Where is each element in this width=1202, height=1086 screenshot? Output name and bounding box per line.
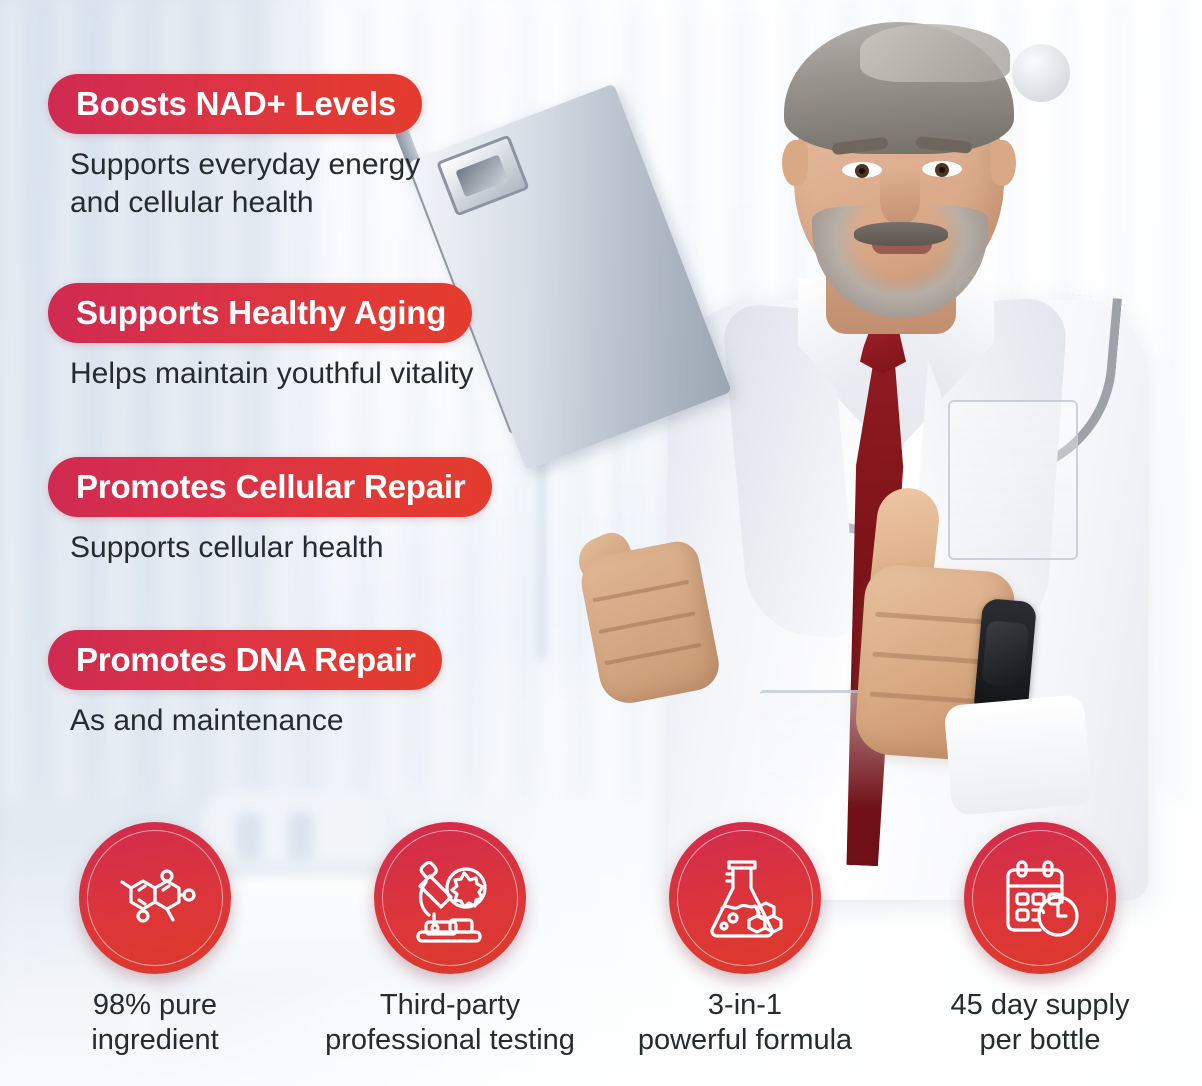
benefit-description-3: Supports cellular health: [70, 529, 492, 567]
ear-left: [782, 140, 808, 186]
benefit-title-badge-2: Supports Healthy Aging: [48, 283, 472, 343]
smartwatch-face: [982, 620, 1029, 687]
hair-highlight: [860, 24, 1010, 82]
ear-right: [990, 140, 1016, 186]
lab-coat-chest-pocket: [948, 400, 1078, 560]
doctor-photo: [560, 0, 1202, 880]
calendar-clock-icon: [964, 822, 1116, 974]
microscope-icon: [374, 822, 526, 974]
feature-label-testing: Third-party professional testing: [302, 988, 598, 1058]
benefit-item-2: Supports Healthy Aging Helps maintain yo…: [48, 283, 474, 393]
infographic-canvas: Boosts NAD+ Levels Supports everyday ene…: [0, 0, 1202, 1086]
feature-item-testing: Third-party professional testing: [302, 822, 598, 1058]
molecule-icon: [79, 822, 231, 974]
feature-label-formula: 3-in-1 powerful formula: [597, 988, 893, 1058]
lab-coat-cuff: [943, 694, 1092, 816]
feature-item-purity: 98% pure ingredient: [7, 822, 303, 1058]
stethoscope-chestpiece: [1012, 44, 1070, 102]
clipboard-clip: [436, 134, 530, 216]
mustache: [854, 222, 948, 246]
benefit-description-2: Helps maintain youthful vitality: [70, 355, 474, 393]
benefit-title-badge-4: Promotes DNA Repair: [48, 630, 442, 690]
feature-label-purity: 98% pure ingredient: [7, 988, 303, 1058]
eye-left: [842, 162, 882, 178]
feature-item-supply: 45 day supply per bottle: [892, 822, 1188, 1058]
benefit-description-1: Supports everyday energy and cellular he…: [70, 146, 422, 223]
feature-item-formula: 3-in-1 powerful formula: [597, 822, 893, 1058]
benefit-title-badge-1: Boosts NAD+ Levels: [48, 74, 422, 134]
flask-icon: [669, 822, 821, 974]
feature-row: 98% pure ingredient Third: [0, 822, 1202, 1086]
feature-label-supply: 45 day supply per bottle: [892, 988, 1188, 1058]
benefit-description-4: As and maintenance: [70, 702, 442, 740]
benefit-item-3: Promotes Cellular Repair Supports cellul…: [48, 457, 492, 567]
benefit-item-1: Boosts NAD+ Levels Supports everyday ene…: [48, 74, 422, 223]
eye-right: [922, 161, 962, 177]
benefit-title-badge-3: Promotes Cellular Repair: [48, 457, 492, 517]
benefit-item-4: Promotes DNA Repair As and maintenance: [48, 630, 442, 740]
